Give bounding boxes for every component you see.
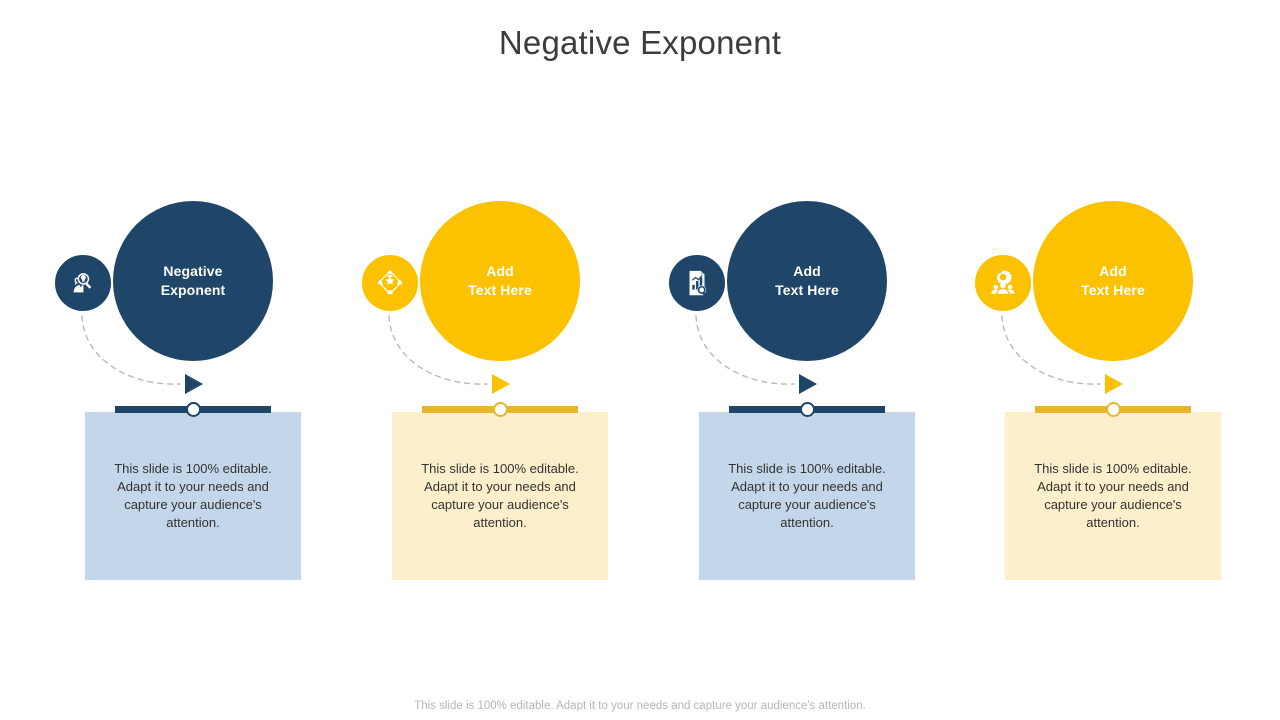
icon-badge[interactable]	[360, 253, 420, 313]
main-circle[interactable]: Add Text Here	[727, 201, 887, 361]
page-title: Negative Exponent	[0, 20, 1280, 66]
description-box: This slide is 100% editable. Adapt it to…	[699, 412, 915, 580]
description-text: This slide is 100% editable. Adapt it to…	[406, 460, 594, 532]
report-chart-magnifier-icon	[682, 268, 712, 298]
team-network-star-icon	[375, 268, 405, 298]
arrow-head-icon	[799, 374, 817, 394]
arrow-head-icon	[492, 374, 510, 394]
description-box: This slide is 100% editable. Adapt it to…	[1005, 412, 1221, 580]
card-cluster-1[interactable]: Negative Exponent This slide is 100% edi…	[40, 180, 347, 600]
description-text: This slide is 100% editable. Adapt it to…	[99, 460, 287, 532]
description-box: This slide is 100% editable. Adapt it to…	[392, 412, 608, 580]
icon-badge[interactable]	[53, 253, 113, 313]
main-circle-label: Add Text Here	[1081, 262, 1145, 300]
card-cluster-3[interactable]: Add Text Here This slid	[654, 180, 961, 600]
gear-people-icon	[988, 268, 1018, 298]
description-box: This slide is 100% editable. Adapt it to…	[85, 412, 301, 580]
bar-dot-marker	[186, 402, 201, 417]
main-circle[interactable]: Add Text Here	[420, 201, 580, 361]
icon-badge[interactable]	[667, 253, 727, 313]
main-circle-label: Add Text Here	[775, 262, 839, 300]
main-circle-label: Add Text Here	[468, 262, 532, 300]
slide-footer-note: This slide is 100% editable. Adapt it to…	[0, 698, 1280, 714]
slide-canvas: Negative Exponent Negative Exponent	[0, 0, 1280, 720]
bar-dot-marker	[1106, 402, 1121, 417]
bar-dot-marker	[493, 402, 508, 417]
head-lightbulb-magnifier-icon	[68, 268, 98, 298]
description-text: This slide is 100% editable. Adapt it to…	[1019, 460, 1207, 532]
main-circle-label: Negative Exponent	[161, 262, 226, 300]
arrow-head-icon	[1105, 374, 1123, 394]
icon-badge[interactable]	[973, 253, 1033, 313]
bar-dot-marker	[800, 402, 815, 417]
main-circle[interactable]: Add Text Here	[1033, 201, 1193, 361]
cards-row: Negative Exponent This slide is 100% edi…	[0, 180, 1280, 600]
card-cluster-4[interactable]: Add Text Here This slide is 100% e	[960, 180, 1267, 600]
main-circle[interactable]: Negative Exponent	[113, 201, 273, 361]
description-text: This slide is 100% editable. Adapt it to…	[713, 460, 901, 532]
arrow-head-icon	[185, 374, 203, 394]
card-cluster-2[interactable]: Add Text Here	[347, 180, 654, 600]
